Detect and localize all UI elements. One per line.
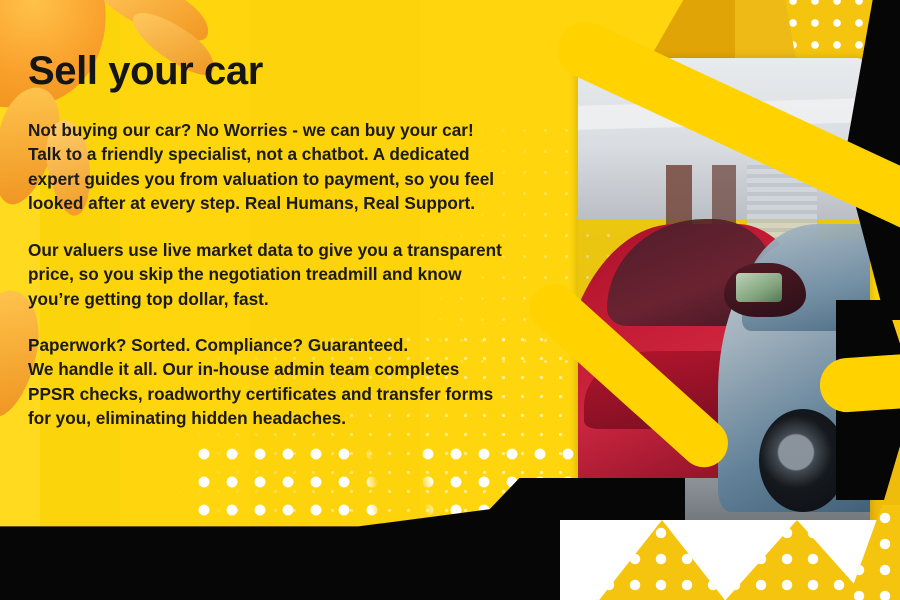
yellow-triangle-right (840, 400, 900, 550)
yellow-speed-bar (548, 13, 900, 245)
body-paragraph-1: Not buying our car? No Worries - we can … (28, 118, 568, 216)
yellow-strip-right (862, 300, 900, 560)
sell-your-car-poster: Sell your car Not buying our car? No Wor… (0, 0, 900, 600)
dotted-chevron-shape (722, 520, 872, 600)
black-hexagon-bottom (455, 478, 685, 600)
orange-petal-shape (92, 0, 218, 52)
text-content-column: Sell your car Not buying our car? No Wor… (28, 50, 568, 431)
white-band-bottom-right (560, 520, 900, 600)
polka-dot-block-bottom (190, 440, 610, 600)
yellow-speed-bar (818, 348, 900, 414)
black-corner-bottom-left (0, 548, 170, 600)
body-paragraph-3: Paperwork? Sorted. Compliance? Guarantee… (28, 333, 568, 431)
body-paragraph-2: Our valuers use live market data to give… (28, 238, 568, 311)
dotted-chevron-shape (596, 520, 728, 600)
page-title: Sell your car (28, 50, 568, 92)
black-band-bottom (0, 500, 560, 600)
dotted-chevron-shape (846, 505, 900, 600)
